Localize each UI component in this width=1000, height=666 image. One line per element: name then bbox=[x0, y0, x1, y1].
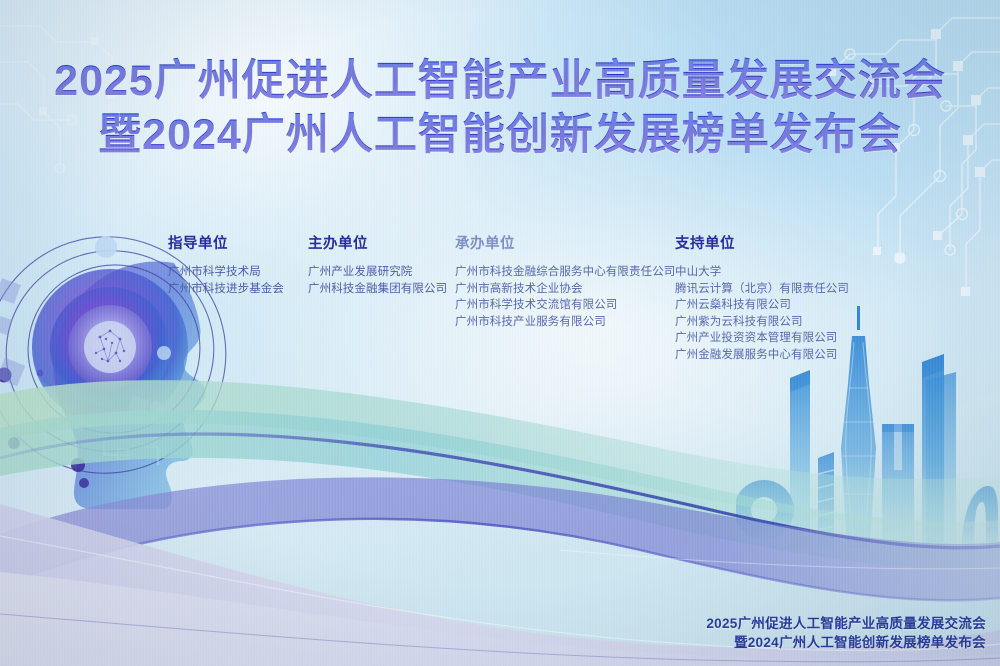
org-item: 广州市科学技术交流馆有限公司 bbox=[455, 297, 675, 314]
org-column-support: 支持单位 中山大学 腾讯云计算（北京）有限责任公司 广州云燊科技有限公司 广州紫… bbox=[675, 232, 865, 363]
org-heading: 指导单位 bbox=[168, 232, 308, 253]
event-backdrop-banner: 2025广州促进人工智能产业高质量发展交流会 暨2024广州人工智能创新发展榜单… bbox=[0, 0, 1000, 666]
watermark-line-2: 暨2024广州人工智能创新发展榜单发布会 bbox=[706, 633, 986, 652]
org-item: 广州市科技产业服务有限公司 bbox=[455, 314, 675, 331]
title-line-2: 暨2024广州人工智能创新发展榜单发布会 bbox=[0, 108, 1000, 162]
flowing-wave-ribbon-icon bbox=[0, 336, 1000, 666]
organizer-columns: 指导单位 广州市科学技术局 广州市科技进步基金会 主办单位 广州产业发展研究院 … bbox=[168, 232, 868, 363]
ai-head-brain-network-icon bbox=[0, 225, 298, 515]
org-column-host: 主办单位 广州产业发展研究院 广州科技金融集团有限公司 bbox=[308, 232, 455, 297]
title-line-1: 2025广州促进人工智能产业高质量发展交流会 bbox=[0, 54, 1000, 108]
org-item: 腾讯云计算（北京）有限责任公司 bbox=[675, 281, 865, 298]
org-item: 广州紫为云科技有限公司 bbox=[675, 314, 865, 331]
background-glow-top-right bbox=[460, 0, 1000, 420]
watermark-line-1: 2025广州促进人工智能产业高质量发展交流会 bbox=[706, 614, 986, 633]
org-item: 广州市科技金融综合服务中心有限责任公司 bbox=[455, 264, 675, 281]
org-heading: 支持单位 bbox=[675, 232, 865, 253]
footer-title-watermark: 2025广州促进人工智能产业高质量发展交流会 暨2024广州人工智能创新发展榜单… bbox=[706, 614, 986, 652]
background-glow-center bbox=[250, 120, 950, 540]
guangzhou-skyline-icon bbox=[736, 298, 998, 548]
org-item: 广州产业发展研究院 bbox=[308, 264, 455, 281]
org-heading: 主办单位 bbox=[308, 232, 455, 253]
org-item: 中山大学 bbox=[675, 264, 865, 281]
org-item: 广州科技金融集团有限公司 bbox=[308, 281, 455, 298]
org-item: 广州云燊科技有限公司 bbox=[675, 297, 865, 314]
circuit-board-trace-secondary-icon bbox=[0, 0, 240, 230]
circuit-board-trace-icon bbox=[700, 0, 1000, 320]
org-item: 广州市科技进步基金会 bbox=[168, 281, 308, 298]
org-item: 广州市科学技术局 bbox=[168, 264, 308, 281]
screen-banding-overlay bbox=[0, 0, 1000, 666]
vignette-overlay bbox=[0, 0, 1000, 666]
background-glow-top-left bbox=[0, 0, 720, 440]
org-item: 广州金融发展服务中心有限公司 bbox=[675, 347, 865, 364]
page-title: 2025广州促进人工智能产业高质量发展交流会 暨2024广州人工智能创新发展榜单… bbox=[0, 54, 1000, 162]
org-item: 广州市高新技术企业协会 bbox=[455, 281, 675, 298]
org-heading: 承办单位 bbox=[455, 232, 675, 253]
org-column-guidance: 指导单位 广州市科学技术局 广州市科技进步基金会 bbox=[168, 232, 308, 297]
org-column-organizer: 承办单位 广州市科技金融综合服务中心有限责任公司 广州市高新技术企业协会 广州市… bbox=[455, 232, 675, 330]
org-item: 广州产业投资资本管理有限公司 bbox=[675, 330, 865, 347]
